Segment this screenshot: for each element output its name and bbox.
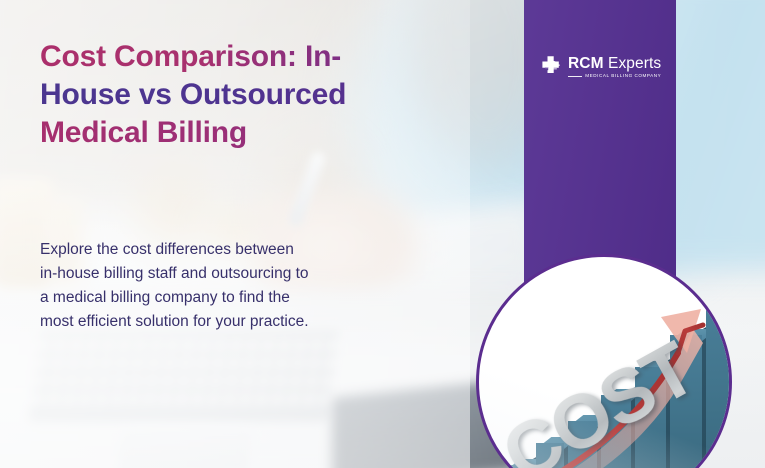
- logo-tagline-row: MEDICAL BILLING COMPANY: [568, 74, 661, 79]
- logo-name: RCM Experts: [568, 56, 661, 72]
- page-title: Cost Comparison: In- House vs Outsourced…: [40, 38, 440, 152]
- brand-logo[interactable]: RCM Experts MEDICAL BILLING COMPANY: [538, 50, 670, 84]
- cost-chart-inner: COST: [479, 257, 729, 468]
- page-subcopy: Explore the cost differences between in-…: [40, 238, 410, 334]
- page-title-line-3: Medical Billing: [40, 114, 440, 152]
- logo-tagline: MEDICAL BILLING COMPANY: [585, 74, 661, 79]
- logo-name-bold: RCM: [568, 55, 604, 72]
- logo-name-light: Experts: [604, 55, 662, 72]
- logo-text-block: RCM Experts MEDICAL BILLING COMPANY: [568, 55, 661, 79]
- cost-chart-badge: COST: [476, 254, 732, 468]
- logo-rule: [568, 76, 582, 77]
- page-subcopy-line-3: a medical billing company to find the: [40, 286, 410, 310]
- page-subcopy-line-4: most efficient solution for your practic…: [40, 310, 410, 334]
- page-title-line-2: House vs Outsourced: [40, 76, 440, 114]
- medical-cross-hand-icon: [538, 54, 564, 80]
- page-subcopy-line-2: in-house billing staff and outsourcing t…: [40, 262, 410, 286]
- page-title-line-1: Cost Comparison: In-: [40, 38, 440, 76]
- page-subcopy-line-1: Explore the cost differences between: [40, 238, 410, 262]
- poster-canvas: Cost Comparison: In- House vs Outsourced…: [0, 0, 765, 468]
